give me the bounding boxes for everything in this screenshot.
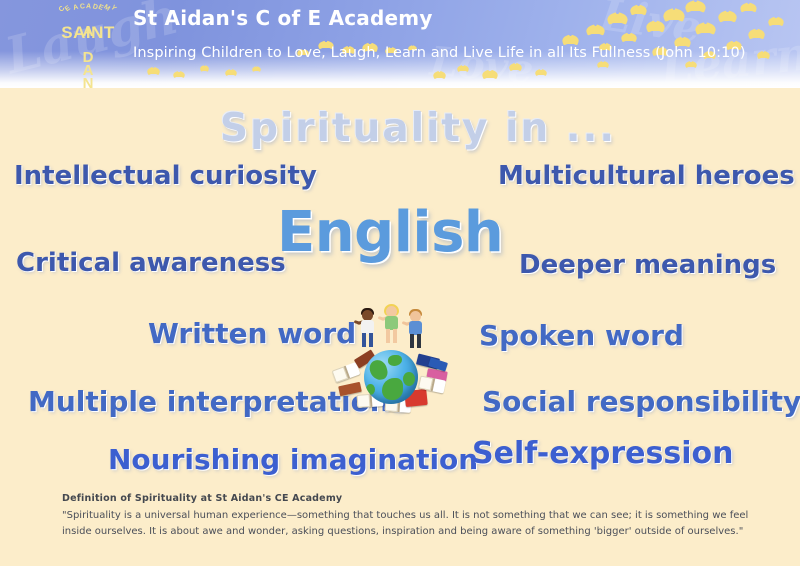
butterfly-icon xyxy=(538,70,544,75)
butterfly-icon xyxy=(512,64,519,70)
phrase-written-word: Written word xyxy=(148,317,356,350)
page-title: Spirituality in ... xyxy=(220,106,616,151)
butterfly-icon xyxy=(590,26,600,34)
butterfly-icon xyxy=(722,12,732,21)
child-body xyxy=(409,321,422,335)
butterfly-icon xyxy=(634,6,643,14)
butterfly-icon xyxy=(566,36,575,44)
definition-body: "Spirituality is a universal human exper… xyxy=(62,508,752,539)
definition-block: Definition of Spirituality at St Aidan's… xyxy=(62,493,752,539)
logo-arc-text: CE ACADEMY xyxy=(44,3,132,10)
school-logo: CE ACADEMY X A X D A N S SAINT xyxy=(44,2,132,86)
butterfly-icon xyxy=(228,70,234,75)
butterfly-icon xyxy=(744,4,753,11)
butterfly-icon xyxy=(760,52,767,58)
globe-landmass xyxy=(382,378,403,400)
globe-landmass xyxy=(366,384,375,395)
child-legs xyxy=(410,334,421,348)
butterfly-icon xyxy=(486,71,494,78)
butterfly-icon xyxy=(752,30,761,38)
phrase-spoken-word: Spoken word xyxy=(479,319,684,352)
school-motto: Inspiring Children to Love, Laugh, Learn… xyxy=(133,45,746,61)
butterfly-icon xyxy=(772,18,780,25)
phrase-social-responsibility: Social responsibility xyxy=(482,385,800,418)
school-header-banner: Laugh Live Learn Love xyxy=(0,0,800,88)
phrase-critical-awareness: Critical awareness xyxy=(16,248,286,278)
butterfly-icon xyxy=(700,24,711,33)
definition-heading: Definition of Spirituality at St Aidan's… xyxy=(62,493,752,504)
child-body xyxy=(361,320,374,334)
butterfly-icon xyxy=(668,10,680,20)
spirituality-in-english-poster: Laugh Live Learn Love xyxy=(0,0,800,566)
butterfly-icon xyxy=(202,66,207,71)
logo-letter: N xyxy=(44,77,132,88)
butterfly-icon xyxy=(150,68,157,74)
phrase-intellectual-curiosity: Intellectual curiosity xyxy=(14,161,317,191)
phrase-multicultural-heroes: Multicultural heroes xyxy=(498,161,795,191)
child-legs xyxy=(386,329,397,343)
logo-saint-text: SAINT xyxy=(44,24,132,41)
butterfly-icon xyxy=(612,14,623,23)
phrase-nourishing-imagination: Nourishing imagination xyxy=(108,443,478,476)
child-body xyxy=(385,316,398,330)
child-legs xyxy=(362,333,373,347)
butterfly-icon xyxy=(436,72,443,78)
globe-landmass xyxy=(388,355,402,366)
school-name: St Aidan's C of E Academy xyxy=(133,6,433,30)
butterfly-icon xyxy=(600,62,606,67)
phrase-deeper-meanings: Deeper meanings xyxy=(519,250,776,280)
butterfly-icon xyxy=(650,22,660,31)
butterfly-icon xyxy=(688,62,694,67)
globe-landmass xyxy=(368,358,389,381)
children-on-globe-icon xyxy=(333,304,457,416)
butterfly-icon xyxy=(625,34,633,41)
subject-title: English xyxy=(277,200,503,265)
butterfly-icon xyxy=(460,66,466,71)
phrase-self-expression: Self-expression xyxy=(472,436,734,471)
butterfly-icon xyxy=(254,67,259,71)
butterfly-icon xyxy=(690,2,701,11)
butterfly-icon xyxy=(176,72,182,77)
globe-icon xyxy=(364,350,418,404)
globe-landmass xyxy=(403,372,415,386)
